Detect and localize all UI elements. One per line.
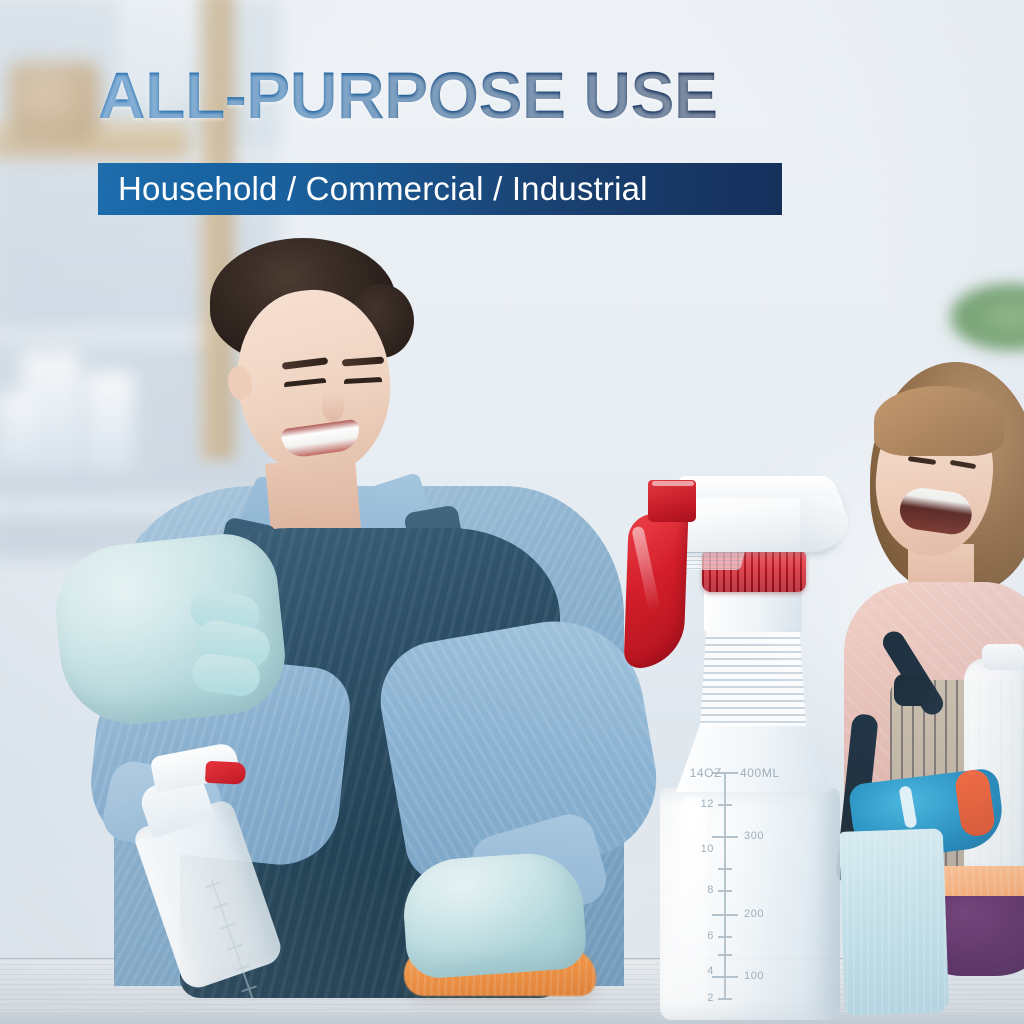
measurement-scale: 14OZ 400ML 12 300 10 8 200 6 100 4 2 [666, 758, 836, 1008]
white-jar [0, 392, 32, 472]
product-spray-bottle: 14OZ 400ML 12 300 10 8 200 6 100 4 2 [604, 466, 840, 1024]
scale-tick-minor [718, 936, 732, 938]
scale-label-oz-max: 14OZ [690, 766, 722, 780]
scale-tick-minor [718, 890, 732, 892]
girl-apron-knot [894, 674, 930, 706]
scale-tick-major [712, 976, 738, 978]
headline: ALL-PURPOSE USE [98, 62, 718, 128]
scale-label-oz-2: 2 [707, 992, 714, 1004]
bottle-neck [704, 590, 802, 632]
scale-label-oz-4: 4 [707, 965, 714, 977]
background-plant-leaf [948, 282, 1024, 352]
scale-tick-major [712, 914, 738, 916]
blue-microfiber-cloth [839, 828, 949, 1016]
scale-label-oz-8: 8 [707, 884, 714, 896]
subtitle-text: Household / Commercial / Industrial [98, 170, 648, 208]
scale-tick-minor [718, 998, 732, 1000]
detergent-bottle-cap [982, 644, 1024, 670]
product-marketing-image: 14OZ 400ML 12 300 10 8 200 6 100 4 2 ALL… [0, 0, 1024, 1024]
wicker-basket [8, 62, 100, 142]
scale-tick-major [712, 836, 738, 838]
girl-hair-front [874, 386, 1004, 456]
woman-nose [322, 392, 344, 422]
sprayer-head-top [678, 476, 838, 498]
mini-bottle-trigger [205, 761, 246, 785]
scale-tick-minor [718, 804, 732, 806]
scale-tick-minor [718, 954, 732, 956]
scale-tick-minor [718, 868, 732, 870]
bottle-ribbed-neck [700, 630, 806, 726]
scale-label-oz-10: 10 [701, 843, 714, 855]
scale-label-ml-300: 300 [744, 830, 764, 842]
scale-label-ml-100: 100 [744, 970, 764, 982]
red-nozzle-tab [648, 480, 696, 522]
scale-label-ml-200: 200 [744, 908, 764, 920]
scale-label-ml-max: 400ML [740, 766, 780, 780]
rubber-glove-right [400, 850, 588, 980]
scale-label-oz-12: 12 [701, 798, 714, 810]
subtitle-banner: Household / Commercial / Industrial [98, 163, 782, 215]
nozzle-tab-line [652, 481, 694, 486]
cleaning-supplies-group [846, 768, 1024, 998]
scale-label-oz-6: 6 [707, 930, 714, 942]
mini-scale-axis [211, 880, 255, 1002]
